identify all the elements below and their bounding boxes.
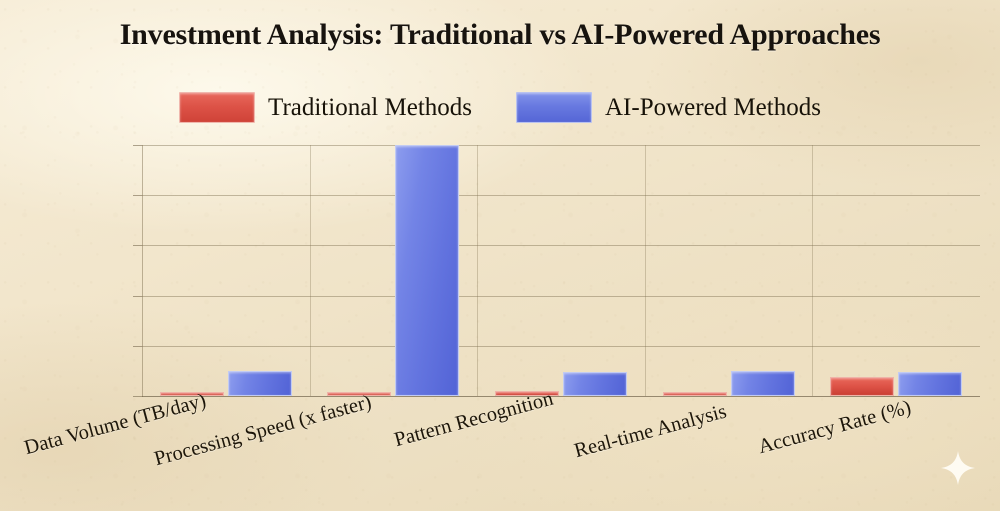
legend-label-ai: AI-Powered Methods: [605, 94, 821, 122]
gridline: [142, 346, 980, 347]
gridline: [142, 145, 980, 146]
chart-legend: Traditional Methods AI-Powered Methods: [0, 92, 1000, 123]
bar-traditional-3[interactable]: [663, 392, 727, 396]
gridline: [142, 396, 980, 397]
bar-ai-0[interactable]: [228, 371, 292, 396]
y-axis-tick-mark: [133, 296, 142, 297]
bar-ai-4[interactable]: [898, 372, 962, 396]
chart-title: Investment Analysis: Traditional vs AI-P…: [0, 18, 1000, 52]
legend-item-ai[interactable]: AI-Powered Methods: [516, 92, 821, 123]
category-separator: [310, 145, 311, 396]
category-separator: [645, 145, 646, 396]
legend-swatch-traditional-icon: [179, 92, 255, 123]
sparkle-icon: [938, 448, 978, 488]
legend-item-traditional[interactable]: Traditional Methods: [179, 92, 472, 123]
plot-area: [142, 145, 980, 396]
y-axis-tick-mark: [133, 145, 142, 146]
gridline: [142, 195, 980, 196]
y-axis-tick-mark: [133, 245, 142, 246]
chart-container: Investment Analysis: Traditional vs AI-P…: [0, 0, 1000, 511]
category-separator: [477, 145, 478, 396]
legend-label-traditional: Traditional Methods: [268, 94, 472, 122]
y-axis-tick-mark: [133, 195, 142, 196]
x-axis-label-4: Accuracy Rate (%): [756, 396, 914, 459]
category-separator: [812, 145, 813, 396]
gridline: [142, 245, 980, 246]
x-axis-label-2: Pattern Recognition: [392, 388, 556, 453]
legend-swatch-ai-icon: [516, 92, 592, 123]
gridline: [142, 296, 980, 297]
y-axis-tick-mark: [133, 396, 142, 397]
y-axis-tick-mark: [133, 346, 142, 347]
bar-ai-2[interactable]: [563, 372, 627, 396]
x-axis-label-3: Real-time Analysis: [572, 400, 729, 463]
bar-ai-3[interactable]: [731, 371, 795, 396]
bar-traditional-4[interactable]: [830, 377, 894, 396]
bar-ai-1[interactable]: [395, 145, 459, 396]
